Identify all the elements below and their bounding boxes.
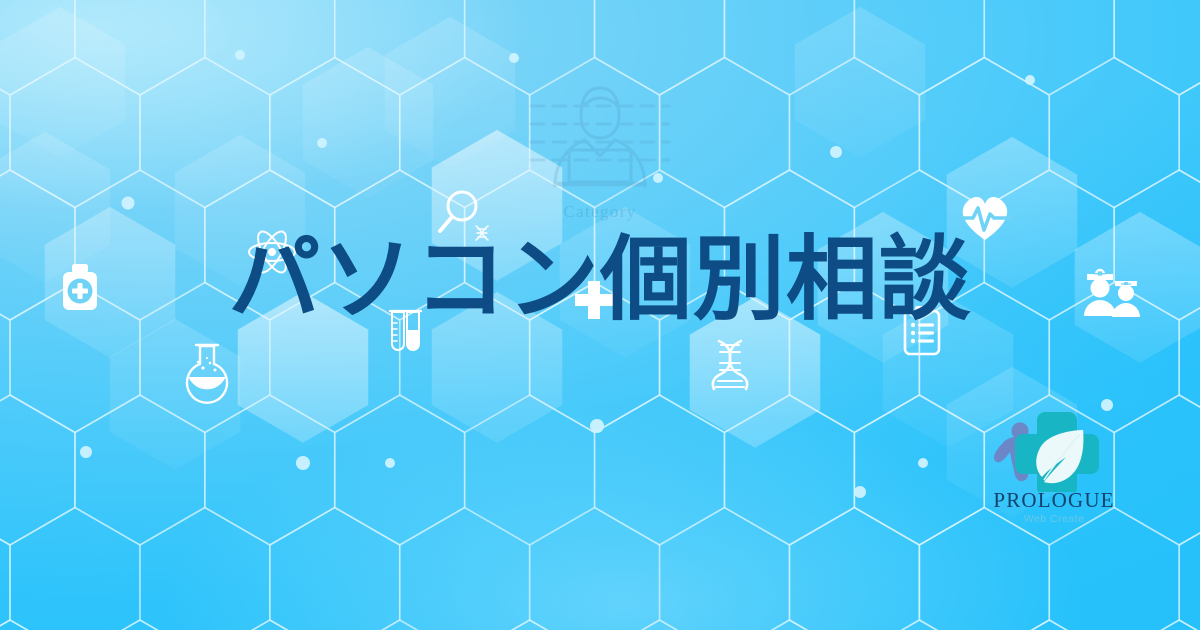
prologue-tagline: Web Create	[988, 514, 1120, 525]
prologue-logo-mark	[988, 404, 1120, 492]
page-title: パソコン個別相談	[228, 232, 971, 329]
category-banner: Category パソコン個別相談	[0, 0, 1200, 630]
dna-helix-icon	[713, 341, 747, 389]
prologue-wordmark: PROLOGUE	[988, 490, 1120, 511]
prologue-logo[interactable]: PROLOGUE Web Create	[988, 404, 1120, 530]
page-title-wrap: パソコン個別相談	[0, 232, 1200, 329]
flask-icon	[187, 345, 227, 403]
